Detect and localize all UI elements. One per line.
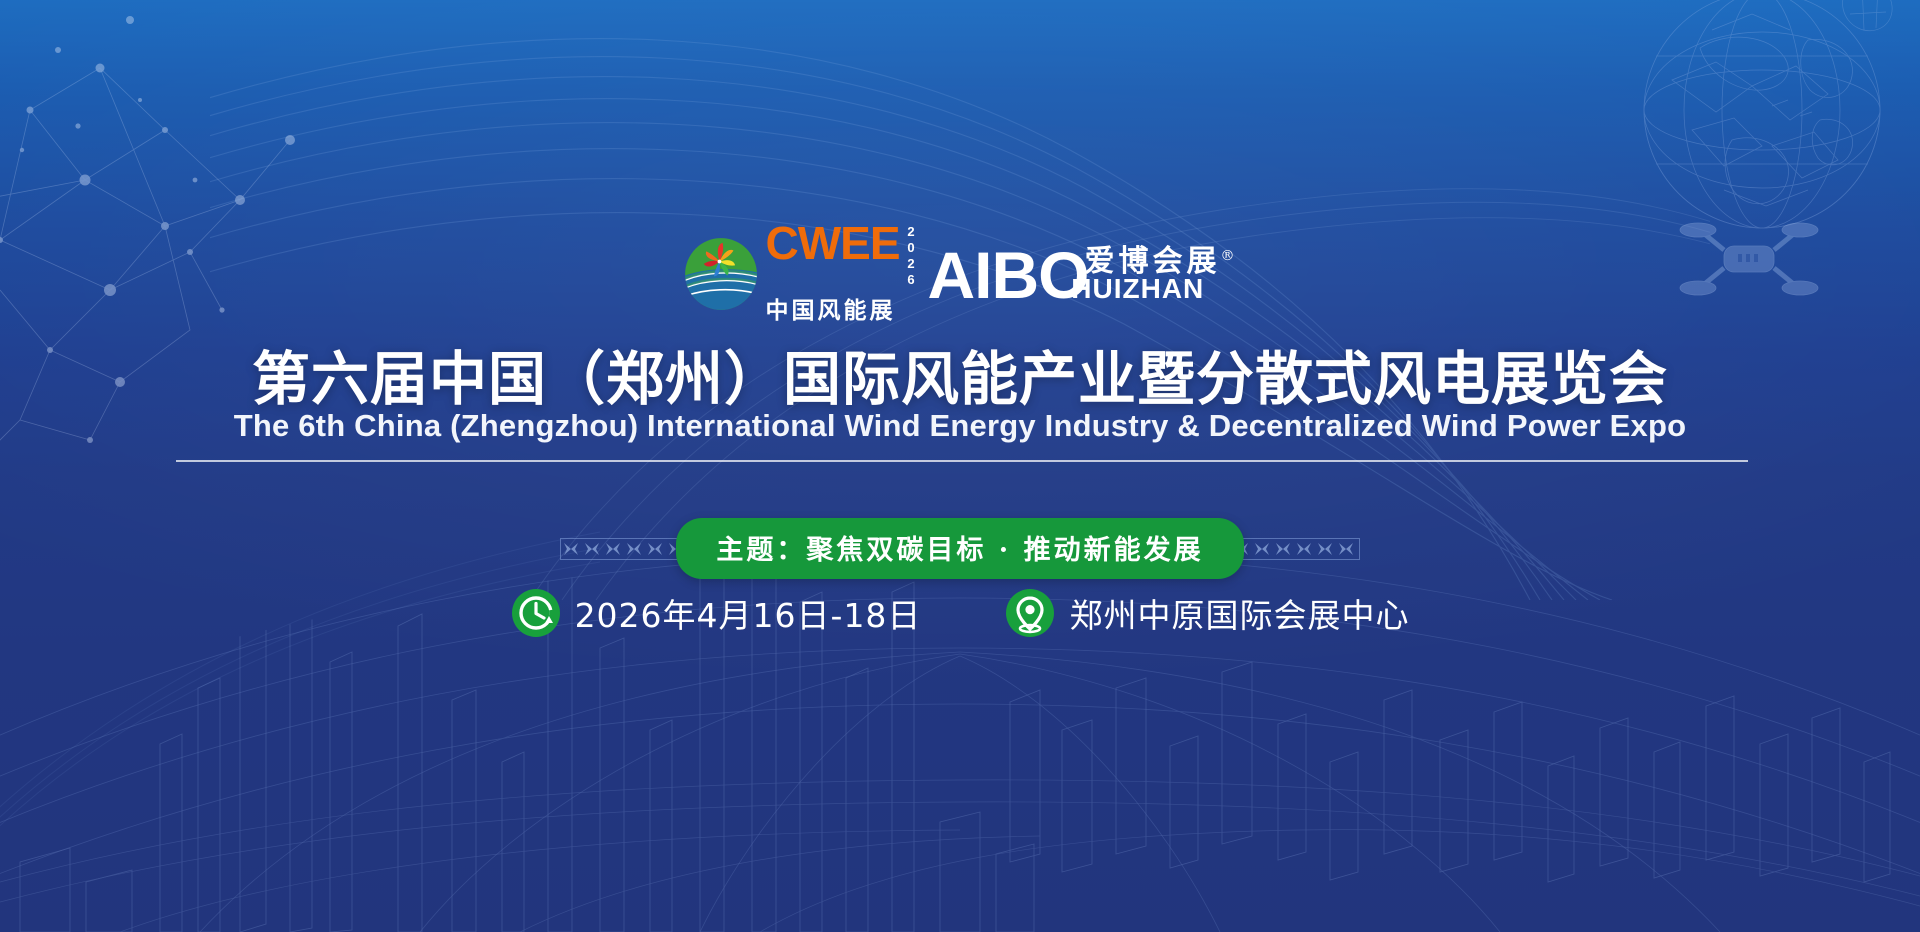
background-vignette	[0, 0, 1920, 932]
ornamental-divider-right-icon	[1230, 538, 1360, 560]
event-venue: 郑州中原国际会展中心	[1005, 588, 1409, 638]
title-divider	[176, 460, 1748, 462]
theme-banner: 主题：聚焦双碳目标 · 推动新能发展	[676, 518, 1243, 579]
cwee-circle-logo-icon	[682, 235, 760, 313]
theme-row: 主题：聚焦双碳目标 · 推动新能发展	[0, 518, 1920, 579]
page-title-english: The 6th China (Zhengzhou) International …	[0, 408, 1920, 444]
aibo-chinese-block: 爱博会展® .HUIZHAN	[1085, 246, 1239, 306]
ornamental-divider-left-icon	[560, 538, 690, 560]
clock-icon	[511, 588, 561, 638]
page-title-chinese: 第六届中国（郑州）国际风能产业暨分散式风电展览会	[0, 332, 1920, 416]
cwee-wordmark: CWEE	[766, 222, 900, 266]
logo-year: 2026	[905, 224, 918, 288]
expo-banner: CWEE 2026 中国风能展 AIBO 爱博会展® .HUIZHAN 第六届中…	[0, 0, 1920, 932]
registered-mark: ®	[1221, 248, 1239, 264]
map-pin-icon	[1005, 588, 1055, 638]
event-meta-row: 2026年4月16日-18日 郑州中原国际会展中心	[0, 588, 1920, 638]
event-date-text: 2026年4月16日-18日	[575, 589, 922, 637]
arc-lines	[0, 432, 600, 932]
cwee-chinese-label: 中国风能展	[766, 291, 918, 325]
event-date: 2026年4月16日-18日	[511, 588, 922, 638]
logo-lockup: CWEE 2026 中国风能展 AIBO 爱博会展® .HUIZHAN	[0, 222, 1920, 325]
event-venue-text: 郑州中原国际会展中心	[1069, 589, 1409, 637]
cwee-text-block: CWEE 2026 中国风能展	[766, 222, 918, 325]
aibo-chinese-label: 爱博会展	[1085, 244, 1221, 279]
theme-text: 主题：聚焦双碳目标 · 推动新能发展	[716, 535, 1203, 566]
